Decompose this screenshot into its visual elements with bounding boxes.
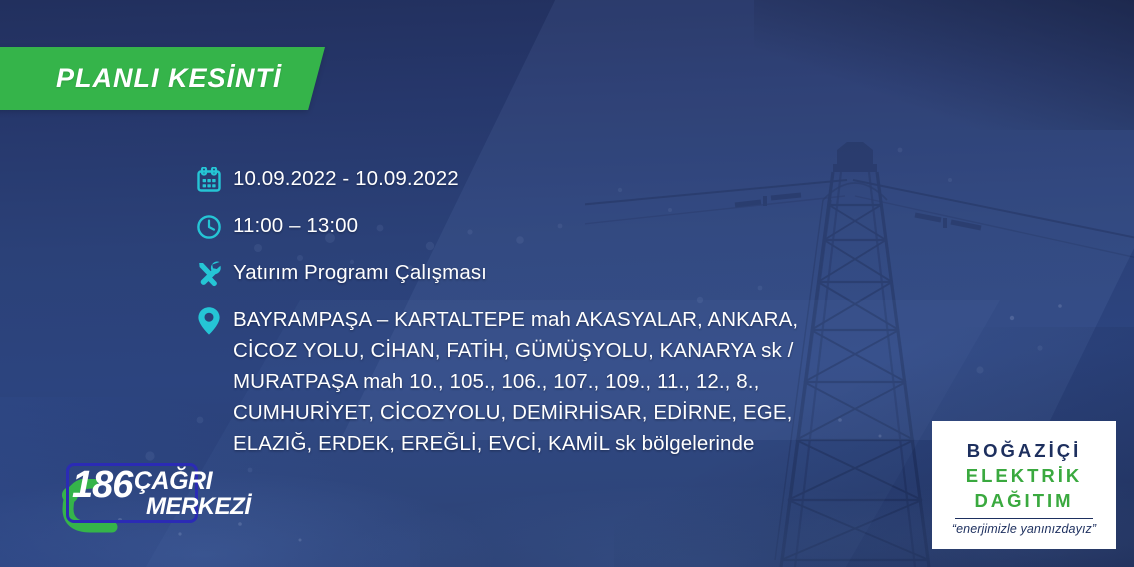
call-center-word-cagri: ÇAĞRI xyxy=(134,468,212,494)
call-center-logo: 186 ÇAĞRI MERKEZİ xyxy=(50,457,202,535)
planned-outage-banner-label: PLANLI KESİNTİ xyxy=(56,47,356,110)
call-center-number: 186 xyxy=(72,465,132,505)
outage-location-list: BAYRAMPAŞA – KARTALTEPE mah AKASYALAR, A… xyxy=(233,304,798,459)
company-name-line3: DAĞITIM xyxy=(974,488,1073,513)
info-row-reason: Yatırım Programı Çalışması xyxy=(193,257,893,290)
tools-icon xyxy=(193,258,225,290)
info-row-location: BAYRAMPAŞA – KARTALTEPE mah AKASYALAR, A… xyxy=(193,304,893,459)
clock-icon xyxy=(193,211,225,243)
location-line: BAYRAMPAŞA – KARTALTEPE mah AKASYALAR, A… xyxy=(233,304,798,335)
company-logo-card: BOĞAZİÇİ ELEKTRİK DAĞITIM “enerjimizle y… xyxy=(932,421,1116,549)
location-line: CİCOZ YOLU, CİHAN, FATİH, GÜMÜŞYOLU, KAN… xyxy=(233,335,798,366)
info-row-time: 11:00 – 13:00 xyxy=(193,210,893,243)
outage-notice-poster: PLANLI KESİNTİ xyxy=(0,0,1134,567)
outage-date-range: 10.09.2022 - 10.09.2022 xyxy=(233,163,459,194)
location-line: CUMHURİYET, CİCOZYOLU, DEMİRHİSAR, EDİRN… xyxy=(233,397,798,428)
location-line: MURATPAŞA mah 10., 105., 106., 107., 109… xyxy=(233,366,798,397)
info-row-date: 10.09.2022 - 10.09.2022 xyxy=(193,163,893,196)
company-logo-divider xyxy=(955,518,1093,519)
map-pin-icon xyxy=(193,305,225,337)
company-name-line2: ELEKTRİK xyxy=(966,463,1083,488)
outage-info-block: 10.09.2022 - 10.09.2022 11:00 – 13:00 xyxy=(193,163,893,459)
company-name-line1: BOĞAZİÇİ xyxy=(967,438,1081,463)
calendar-icon xyxy=(193,164,225,196)
outage-time-range: 11:00 – 13:00 xyxy=(233,210,358,241)
location-line: ELAZIĞ, ERDEK, EREĞLİ, EVCİ, KAMİL sk bö… xyxy=(233,428,798,459)
call-center-word-merkezi: MERKEZİ xyxy=(146,494,251,519)
outage-reason: Yatırım Programı Çalışması xyxy=(233,257,487,288)
company-tagline: “enerjimizle yanınızdayız” xyxy=(952,522,1096,536)
